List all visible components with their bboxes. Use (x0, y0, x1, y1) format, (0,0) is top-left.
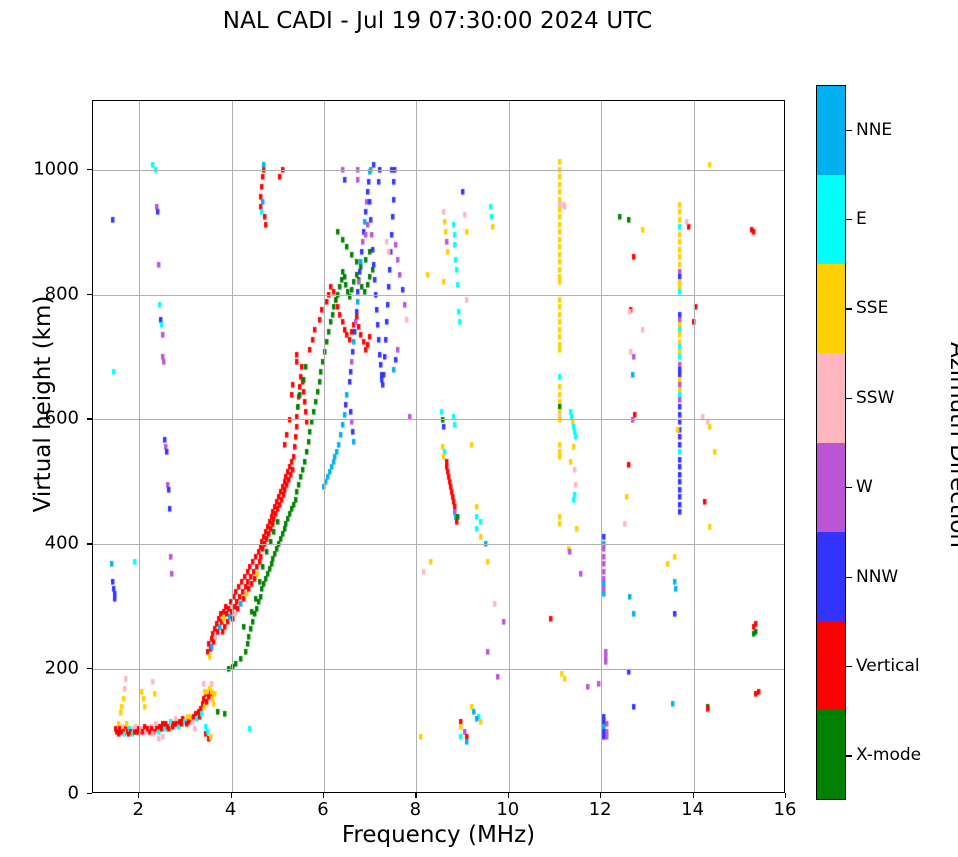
colorbar-segment-x-mode[interactable] (817, 710, 845, 799)
x-tick-label: 12 (589, 799, 612, 820)
x-tick (138, 793, 139, 798)
colorbar-tick-label-ssw: SSW (856, 388, 894, 408)
x-tick (323, 793, 324, 798)
colorbar-tick (846, 130, 852, 131)
x-tick (693, 793, 694, 798)
x-tick-label: 4 (225, 799, 236, 820)
page-title: NAL CADI - Jul 19 07:30:00 2024 UTC (0, 8, 875, 34)
x-tick (415, 793, 416, 798)
ionogram-scatter-canvas[interactable] (93, 101, 786, 794)
x-tick (600, 793, 601, 798)
gridline-vertical (601, 101, 602, 792)
y-tick-label: 1000 (33, 158, 79, 179)
colorbar-tick-label-sse: SSE (856, 298, 888, 318)
x-axis-label: Frequency (MHz) (92, 822, 785, 848)
colorbar-tick-label-vertical: Vertical (856, 656, 920, 676)
colorbar-tick-label-x-mode: X-mode (856, 745, 921, 765)
plot-area[interactable] (92, 100, 785, 793)
gridline-horizontal (93, 295, 784, 296)
x-tick-label: 14 (681, 799, 704, 820)
colorbar-tick-label-w: W (856, 477, 873, 497)
x-tick-label: 16 (774, 799, 797, 820)
gridline-horizontal (93, 419, 784, 420)
colorbar[interactable] (816, 85, 846, 800)
colorbar-tick (846, 666, 852, 667)
colorbar-segment-vertical[interactable] (817, 621, 845, 710)
colorbar-tick (846, 308, 852, 309)
colorbar-label: Azimuth Direction (945, 295, 958, 595)
gridline-horizontal (93, 544, 784, 545)
y-tick (87, 793, 92, 794)
colorbar-tick-label-e: E (856, 209, 867, 229)
x-tick (508, 793, 509, 798)
x-tick (785, 793, 786, 798)
colorbar-segment-sse[interactable] (817, 264, 845, 353)
colorbar-tick-label-nnw: NNW (856, 567, 898, 587)
x-tick (231, 793, 232, 798)
y-tick-label: 0 (68, 783, 79, 804)
colorbar-segment-ssw[interactable] (817, 353, 845, 442)
colorbar-tick (846, 398, 852, 399)
y-tick-label: 200 (45, 658, 79, 679)
colorbar-tick (846, 487, 852, 488)
gridline-vertical (694, 101, 695, 792)
y-tick (87, 418, 92, 419)
colorbar-tick (846, 755, 852, 756)
ionogram-figure: NAL CADI - Jul 19 07:30:00 2024 UTC 2468… (0, 0, 958, 857)
gridline-vertical (232, 101, 233, 792)
colorbar-tick-label-nne: NNE (856, 120, 892, 140)
x-tick-label: 6 (317, 799, 328, 820)
colorbar-tick (846, 577, 852, 578)
gridline-vertical (509, 101, 510, 792)
gridline-vertical (416, 101, 417, 792)
gridline-horizontal (93, 669, 784, 670)
colorbar-segment-e[interactable] (817, 175, 845, 264)
y-axis-label: Virtual height (km) (30, 264, 56, 544)
colorbar-segment-nne[interactable] (817, 86, 845, 175)
y-tick (87, 169, 92, 170)
y-tick (87, 668, 92, 669)
colorbar-segment-nnw[interactable] (817, 532, 845, 621)
gridline-vertical (139, 101, 140, 792)
gridline-vertical (324, 101, 325, 792)
x-tick-label: 10 (496, 799, 519, 820)
x-tick-label: 2 (132, 799, 143, 820)
gridline-horizontal (93, 170, 784, 171)
colorbar-tick (846, 219, 852, 220)
colorbar-segment-w[interactable] (817, 443, 845, 532)
x-tick-label: 8 (410, 799, 421, 820)
y-tick (87, 543, 92, 544)
y-tick (87, 294, 92, 295)
